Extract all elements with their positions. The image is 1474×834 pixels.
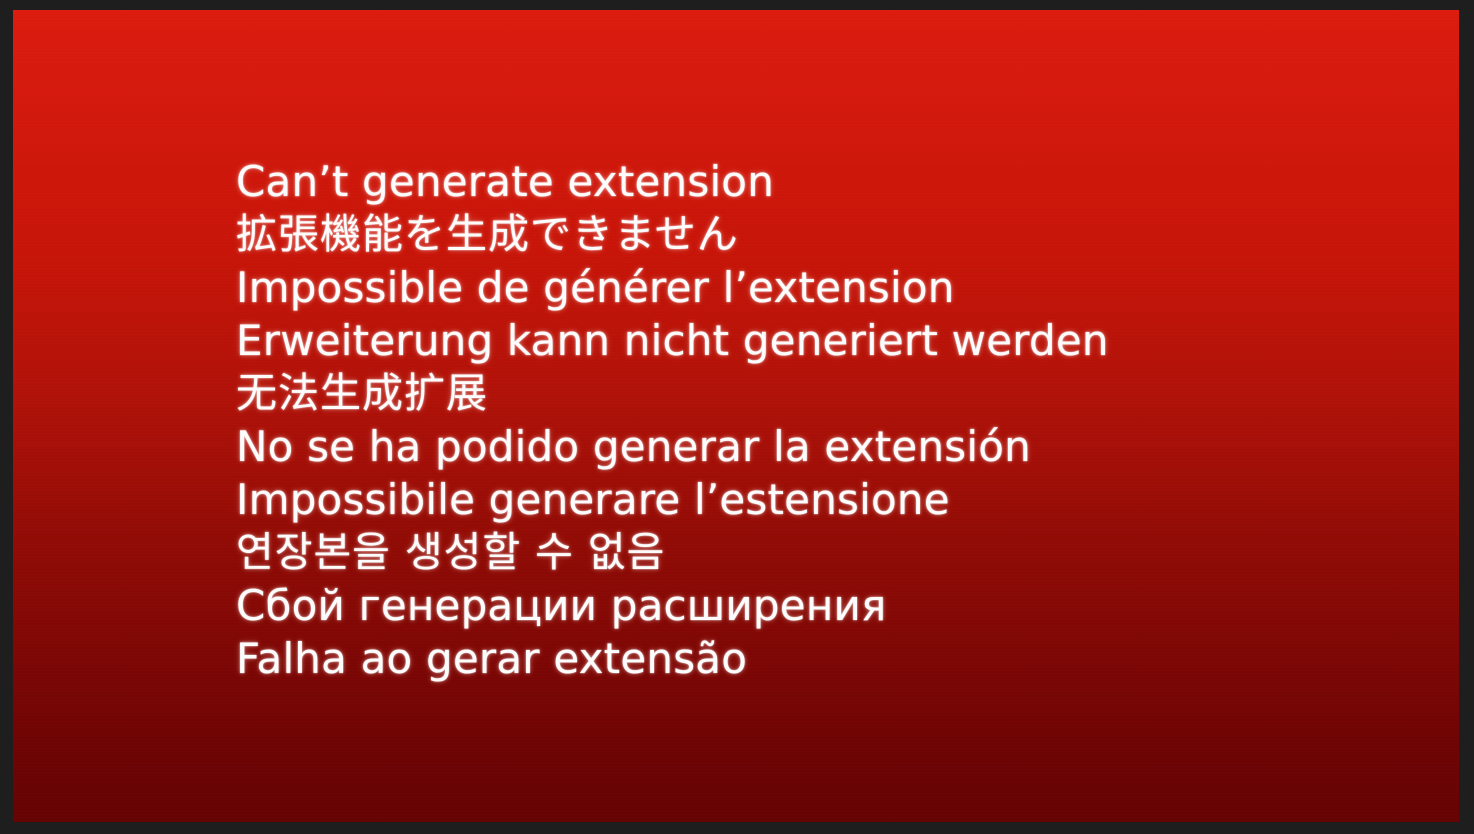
error-message-ru: Сбой генерации расширения — [236, 579, 1109, 632]
error-message-it: Impossibile generare l’estensione — [236, 473, 1109, 526]
error-message-de: Erweiterung kann nicht generiert werden — [236, 314, 1109, 367]
error-message-en: Can’t generate extension — [236, 155, 1109, 208]
error-message-pt: Falha ao gerar extensão — [236, 632, 1109, 685]
error-message-fr: Impossible de générer l’extension — [236, 261, 1109, 314]
error-message-ja: 拡張機能を生成できません — [236, 208, 1109, 261]
error-message-es: No se ha podido generar la extensión — [236, 420, 1109, 473]
error-message-panel: Can’t generate extension 拡張機能を生成できません Im… — [13, 10, 1459, 822]
fullscreen-error-screen: Can’t generate extension 拡張機能を生成できません Im… — [0, 0, 1474, 834]
localized-message-list: Can’t generate extension 拡張機能を生成できません Im… — [236, 155, 1109, 685]
error-message-ko: 연장본을 생성할 수 없음 — [236, 526, 1109, 579]
error-message-zh: 无法生成扩展 — [236, 367, 1109, 420]
